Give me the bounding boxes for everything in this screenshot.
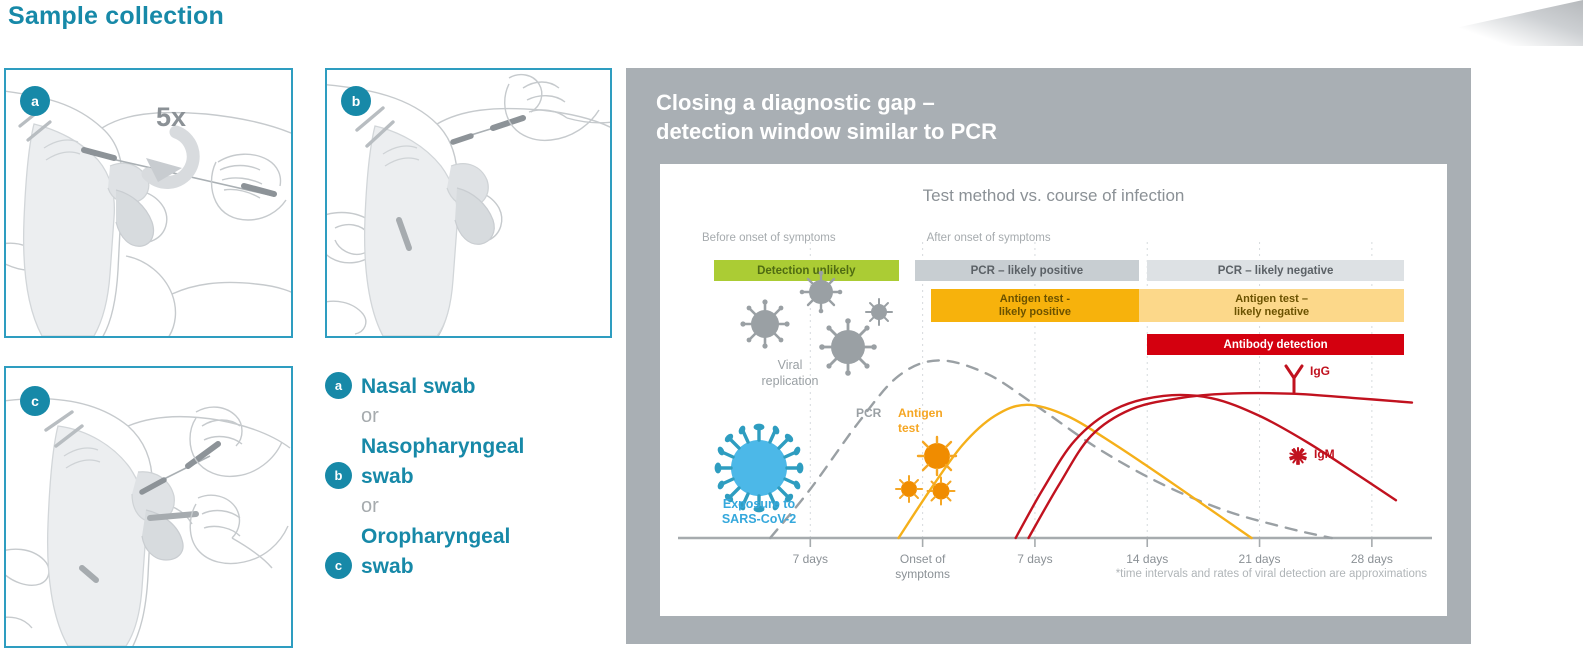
legend-item-oropharyngeal-line2: c swab (325, 552, 615, 582)
chart-curves (660, 164, 1447, 616)
legend-label-nasopharyngeal: Nasopharyngeal (361, 432, 524, 461)
lower-hand-outline (190, 495, 288, 568)
annotation-exposure: Exposure to SARS-CoV-2 (704, 497, 814, 527)
annotation-viral-replication: Viral replication (744, 357, 836, 389)
legend-item-oropharyngeal-line1: Oropharyngeal (325, 522, 615, 552)
curve-label-pcr: PCR (856, 406, 881, 420)
panel-badge-b: b (341, 86, 371, 116)
swab-type-legend: a Nasal swab or Nasopharyngeal b swab or… (325, 372, 615, 582)
x-tick-label-3: 14 days (1097, 552, 1197, 567)
legend-badge-b: b (325, 462, 352, 489)
page-fold-decoration (1373, 0, 1583, 46)
nasopharyngeal-swab-illustration (327, 70, 610, 336)
curve-label-igm: IgM (1314, 447, 1335, 461)
curve-label-igg: IgG (1310, 364, 1330, 378)
curve-antigen-test (899, 405, 1252, 538)
oropharyngeal-swab-illustration (6, 368, 291, 646)
turbinate-shape-2 (116, 190, 154, 246)
legend-badge-a: a (325, 372, 352, 399)
swab-tip (453, 136, 471, 142)
legend-label-oropharyngeal-swab: swab (361, 552, 414, 581)
diagnostic-gap-panel: Closing a diagnostic gap – detection win… (626, 68, 1471, 644)
oral-cavity-shading (48, 426, 147, 646)
x-tick-label-2: 7 days (985, 552, 1085, 567)
x-tick-label-1: Onset of symptoms (873, 552, 973, 582)
legend-label-or-1: or (361, 402, 379, 430)
panel-title: Closing a diagnostic gap – detection win… (656, 88, 997, 146)
hand-outline (505, 75, 610, 141)
legend-separator-or-2: or (325, 492, 615, 522)
curve-igm (1016, 395, 1396, 538)
panel-badge-c: c (20, 386, 50, 416)
legend-item-nasal: a Nasal swab (325, 372, 615, 402)
legend-label-oropharyngeal: Oropharyngeal (361, 522, 510, 551)
x-tick-label-0: 7 days (760, 552, 860, 567)
chart-footnote: *time intervals and rates of viral detec… (1116, 568, 1427, 580)
illustration-panel-a: a 5x (4, 68, 293, 338)
rotation-arrow (146, 132, 193, 182)
curve-label-antigen-test: Antigen test (898, 406, 950, 436)
repetition-label-5x: 5x (156, 102, 186, 133)
x-tick-label-4: 21 days (1210, 552, 1310, 567)
page-title: Sample collection (8, 2, 224, 31)
curve-pcr (770, 360, 1332, 538)
panel-badge-a: a (20, 86, 50, 116)
legend-item-nasopharyngeal-line2: b swab (325, 462, 615, 492)
legend-item-nasopharyngeal-line1: Nasopharyngeal (325, 432, 615, 462)
infection-course-chart: Test method vs. course of infection Befo… (660, 164, 1447, 616)
legend-label-or-2: or (361, 492, 379, 520)
legend-label-nasal-swab: Nasal swab (361, 372, 475, 401)
illustration-panel-b: b (325, 68, 612, 338)
illustration-panel-c: c (4, 366, 293, 648)
legend-separator-or-1: or (325, 402, 615, 432)
legend-label-nasopharyngeal-swab: swab (361, 462, 414, 491)
legend-badge-c: c (325, 552, 352, 579)
x-tick-label-5: 28 days (1322, 552, 1422, 567)
tongue-depressor (150, 514, 196, 518)
nasal-swab-illustration (6, 70, 291, 336)
